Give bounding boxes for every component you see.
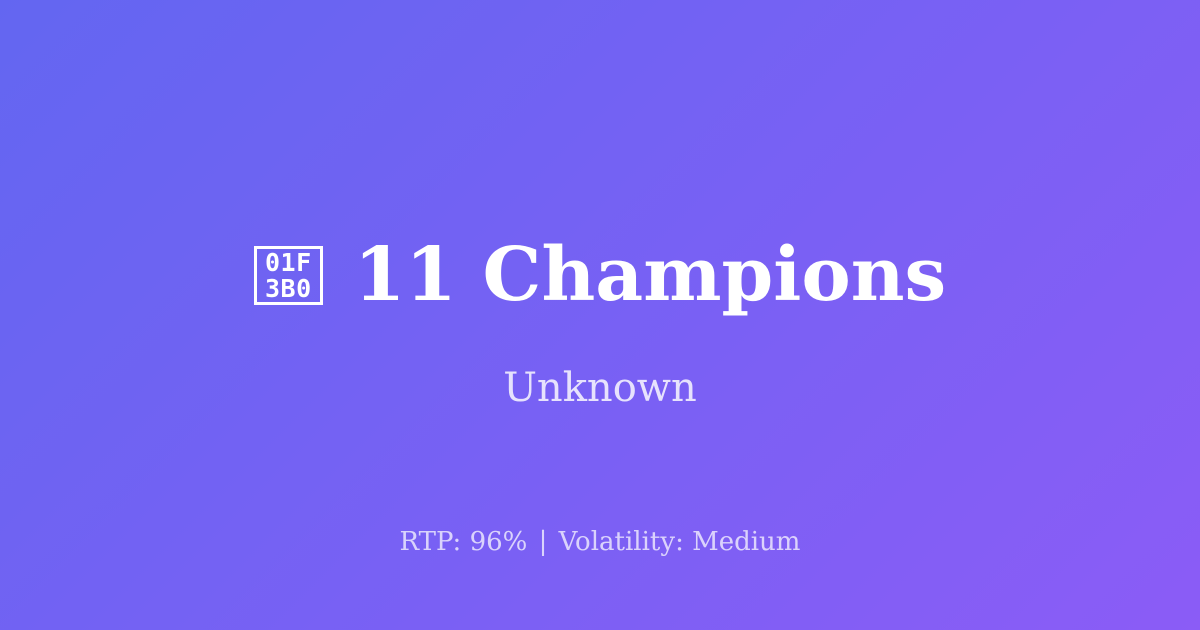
game-og-card: 01F 3B0 11 Champions Unknown RTP: 96% | … bbox=[0, 0, 1200, 630]
tofu-codepoint-upper: 01F bbox=[265, 250, 312, 276]
page-title: 11 Champions bbox=[354, 232, 946, 318]
meta-separator: | bbox=[536, 527, 551, 557]
game-meta-line: RTP: 96% | Volatility: Medium bbox=[0, 526, 1200, 558]
volatility-value: Volatility: Medium bbox=[559, 527, 801, 557]
game-provider-label: Unknown bbox=[0, 364, 1200, 412]
title-row: 01F 3B0 11 Champions bbox=[0, 232, 1200, 318]
card-content-wrapper: 01F 3B0 11 Champions Unknown RTP: 96% | … bbox=[0, 0, 1200, 630]
slot-machine-icon: 01F 3B0 bbox=[254, 246, 323, 305]
rtp-value: RTP: 96% bbox=[400, 527, 528, 557]
tofu-codepoint-lower: 3B0 bbox=[265, 276, 312, 302]
